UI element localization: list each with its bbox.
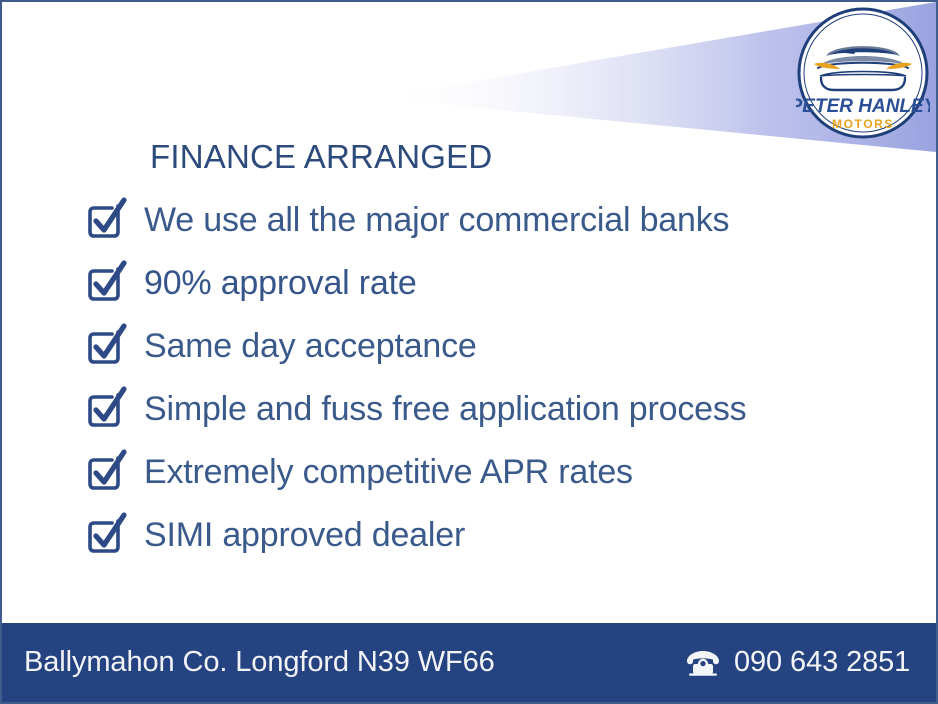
- page-title: FINANCE ARRANGED: [150, 138, 492, 176]
- list-item-label: Same day acceptance: [144, 329, 477, 363]
- list-item: Extremely competitive APR rates: [82, 440, 902, 503]
- checkbox-checked-icon: [82, 320, 130, 368]
- footer-address: Ballymahon Co. Longford N39 WF66: [24, 646, 495, 679]
- footer-phone-number: 090 643 2851: [734, 646, 910, 679]
- list-item-label: 90% approval rate: [144, 266, 417, 300]
- checkbox-checked-icon: [82, 446, 130, 494]
- list-item: 90% approval rate: [82, 251, 902, 314]
- footer-phone-group[interactable]: 090 643 2851: [685, 646, 910, 679]
- finance-banner: PETER HANLEY MOTORS FINANCE ARRANGED We …: [0, 0, 938, 704]
- list-item: We use all the major commercial banks: [82, 188, 902, 251]
- checkbox-checked-icon: [82, 509, 130, 557]
- list-item-label: Extremely competitive APR rates: [144, 455, 633, 489]
- list-item: SIMI approved dealer: [82, 503, 902, 566]
- dealer-logo: PETER HANLEY MOTORS: [796, 6, 930, 140]
- list-item-label: SIMI approved dealer: [144, 518, 465, 552]
- list-item-label: Simple and fuss free application process: [144, 392, 746, 426]
- list-item: Simple and fuss free application process: [82, 377, 902, 440]
- logo-brand-sub: MOTORS: [832, 117, 894, 131]
- list-item: Same day acceptance: [82, 314, 902, 377]
- checkbox-checked-icon: [82, 257, 130, 305]
- checkbox-checked-icon: [82, 194, 130, 242]
- list-item-label: We use all the major commercial banks: [144, 203, 729, 237]
- logo-brand-name: PETER HANLEY: [796, 96, 930, 117]
- contact-footer: Ballymahon Co. Longford N39 WF66 090 643…: [2, 621, 938, 702]
- telephone-icon: [685, 649, 721, 677]
- feature-list: We use all the major commercial banks 90…: [82, 188, 902, 566]
- checkbox-checked-icon: [82, 383, 130, 431]
